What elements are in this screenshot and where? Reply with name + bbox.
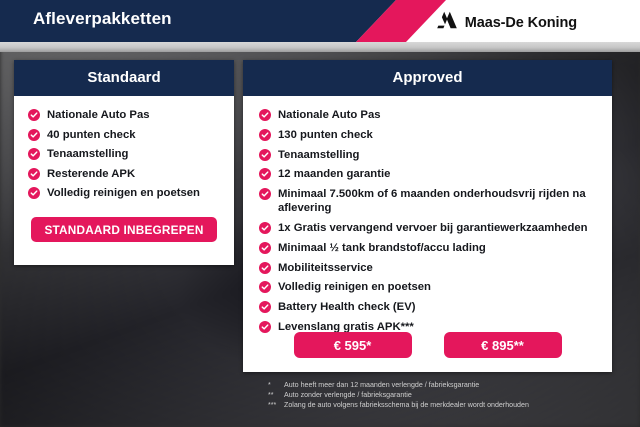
list-item: Nationale Auto Pas <box>243 108 612 122</box>
feature-list-standaard: Nationale Auto Pas 40 punten check Tenaa… <box>14 108 234 200</box>
check-circle-icon <box>28 129 40 141</box>
feature-label: Nationale Auto Pas <box>278 108 381 122</box>
feature-label: Minimaal 7.500km of 6 maanden onderhouds… <box>278 187 602 215</box>
background-top-strip <box>0 42 640 52</box>
feature-label: 40 punten check <box>47 128 136 142</box>
card-body-standaard: Nationale Auto Pas 40 punten check Tenaa… <box>14 96 234 200</box>
list-item: Volledig reinigen en poetsen <box>243 280 612 294</box>
check-circle-icon <box>28 187 40 199</box>
card-heading-standaard: Standaard <box>14 60 234 96</box>
footnotes: * Auto heeft meer dan 12 maanden verleng… <box>268 380 628 410</box>
brand-name: Maas-De Koning <box>465 15 577 31</box>
footnote-item: * Auto heeft meer dan 12 maanden verleng… <box>268 380 628 390</box>
check-circle-icon <box>259 149 271 161</box>
feature-list-approved: Nationale Auto Pas 130 punten check Tena… <box>243 108 612 334</box>
check-circle-icon <box>259 301 271 313</box>
feature-label: Nationale Auto Pas <box>47 108 150 122</box>
list-item: Battery Health check (EV) <box>243 300 612 314</box>
list-item: Volledig reinigen en poetsen <box>14 186 234 200</box>
footnote-marker: *** <box>268 400 284 410</box>
footnote-text: Auto zonder verlengde / fabrieksgarantie <box>284 390 412 400</box>
list-item: Resterende APK <box>14 167 234 181</box>
feature-label: Resterende APK <box>47 167 135 181</box>
list-item: Minimaal ½ tank brandstof/accu lading <box>243 241 612 255</box>
list-item: Minimaal 7.500km of 6 maanden onderhouds… <box>243 187 612 215</box>
price-button-595[interactable]: € 595* <box>294 332 412 358</box>
header-bar: Afleverpakketten Maas-De Koning <box>0 0 640 42</box>
list-item: Nationale Auto Pas <box>14 108 234 122</box>
feature-label: Minimaal ½ tank brandstof/accu lading <box>278 241 486 255</box>
brand-logo: Maas-De Koning <box>436 11 577 34</box>
check-circle-icon <box>259 109 271 121</box>
footnote-marker: * <box>268 380 284 390</box>
check-circle-icon <box>28 109 40 121</box>
check-circle-icon <box>259 281 271 293</box>
footnote-item: *** Zolang de auto volgens fabrieksschem… <box>268 400 628 410</box>
check-circle-icon <box>259 188 271 200</box>
feature-label: 130 punten check <box>278 128 373 142</box>
feature-label: Tenaamstelling <box>278 148 359 162</box>
list-item: Tenaamstelling <box>14 147 234 161</box>
footnote-marker: ** <box>268 390 284 400</box>
feature-label: Volledig reinigen en poetsen <box>278 280 431 294</box>
standaard-inbegrepen-button[interactable]: STANDAARD INBEGREPEN <box>31 217 217 242</box>
check-circle-icon <box>259 129 271 141</box>
list-item: 12 maanden garantie <box>243 167 612 181</box>
footnote-item: ** Auto zonder verlengde / fabrieksgaran… <box>268 390 628 400</box>
package-card-standaard: Standaard Nationale Auto Pas 40 punten c… <box>14 60 234 265</box>
check-circle-icon <box>28 148 40 160</box>
list-item: 130 punten check <box>243 128 612 142</box>
card-heading-approved: Approved <box>243 60 612 96</box>
card-body-approved: Nationale Auto Pas 130 punten check Tena… <box>243 96 612 334</box>
footnote-text: Auto heeft meer dan 12 maanden verlengde… <box>284 380 479 390</box>
afleverpakketten-slide: Afleverpakketten Maas-De Koning Standaar… <box>0 0 640 427</box>
list-item: 40 punten check <box>14 128 234 142</box>
price-button-895[interactable]: € 895** <box>444 332 562 358</box>
maas-de-koning-m-logo-icon <box>436 11 458 34</box>
feature-label: 12 maanden garantie <box>278 167 390 181</box>
price-button-row: € 595* € 895** <box>243 332 612 358</box>
page-title: Afleverpakketten <box>33 9 172 29</box>
feature-label: Mobiliteitsservice <box>278 261 373 275</box>
footnote-text: Zolang de auto volgens fabrieksschema bi… <box>284 400 529 410</box>
check-circle-icon <box>259 222 271 234</box>
feature-label: Battery Health check (EV) <box>278 300 416 314</box>
list-item: Mobiliteitsservice <box>243 261 612 275</box>
feature-label: Volledig reinigen en poetsen <box>47 186 200 200</box>
list-item: Tenaamstelling <box>243 148 612 162</box>
check-circle-icon <box>28 168 40 180</box>
feature-label: 1x Gratis vervangend vervoer bij garanti… <box>278 221 588 235</box>
check-circle-icon <box>259 168 271 180</box>
list-item: 1x Gratis vervangend vervoer bij garanti… <box>243 221 612 235</box>
package-card-approved: Approved Nationale Auto Pas 130 punten c… <box>243 60 612 372</box>
check-circle-icon <box>259 262 271 274</box>
feature-label: Tenaamstelling <box>47 147 128 161</box>
check-circle-icon <box>259 242 271 254</box>
